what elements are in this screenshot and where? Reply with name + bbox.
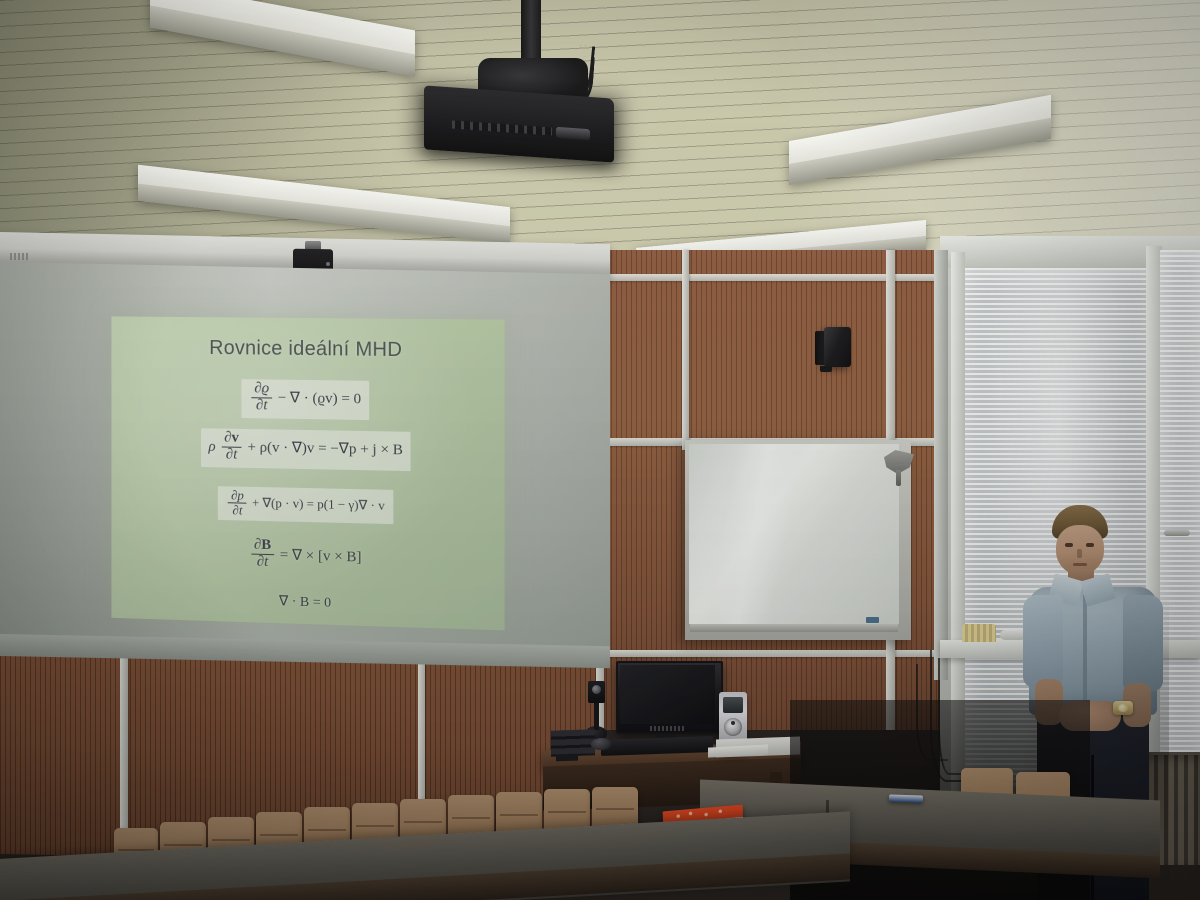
equation-continuity-body: ∂ϱ ∂t − ∇ · (ϱv) = 0 (241, 379, 369, 419)
presenter-sleeve-left (1023, 595, 1063, 687)
equation-pressure-rest: + ∇(p · v) = p(1 − γ)∇ · v (252, 495, 385, 513)
equation-pressure-body: ∂p ∂t + ∇(p · v) = p(1 − γ)∇ · v (218, 486, 393, 524)
whiteboard-pen-tray (690, 624, 898, 632)
desktop-speaker-stem (594, 702, 599, 730)
whiteboard-marker[interactable] (866, 617, 879, 623)
desktop-speaker-cone-icon (592, 685, 601, 694)
presenter-wristwatch-face (1118, 704, 1128, 712)
equation-momentum-rest: + ρ(v · ∇)v = −∇p + j × B (248, 440, 403, 459)
slide-title: Rovnice ideální MHD (111, 336, 504, 363)
housing-label (10, 253, 30, 260)
fraction-denominator: ∂t (251, 397, 272, 414)
desk-small-device (556, 754, 578, 762)
fraction-denominator: ∂t (228, 502, 247, 517)
equation-continuity: ∂ϱ ∂t − ∇ · (ϱv) = 0 (111, 377, 504, 421)
equation-continuity-rest: − ∇ · (ϱv) = 0 (278, 390, 361, 407)
presenter-eye-right (1086, 543, 1094, 547)
equation-induction-body: ∂B ∂t = ∇ × [v × B] (249, 546, 362, 565)
presenter-shirt-placket (1083, 595, 1087, 713)
projector-lens (556, 127, 590, 140)
presenter-mouth (1073, 563, 1087, 566)
av-control-panel-dial-marker (731, 721, 735, 725)
fraction-numerator: ∂ϱ (251, 381, 272, 397)
desk-equipment-stack (551, 729, 595, 757)
fraction-numerator: ∂B (251, 538, 274, 554)
wall-trim-vertical-1 (682, 250, 689, 450)
presenter-sleeve-right (1123, 595, 1163, 691)
wall-trim-horizontal-lower (596, 650, 964, 657)
lecture-room-photo: Rovnice ideální MHD ∂ϱ ∂t − ∇ · (ϱv) = 0… (0, 0, 1200, 900)
fraction: ∂B ∂t (251, 538, 274, 571)
window-frame-post (934, 250, 948, 680)
pen[interactable] (889, 794, 923, 802)
monitor-brand-label (650, 726, 684, 731)
slide-light-glow (111, 316, 504, 630)
whiteboard-glare (689, 444, 899, 624)
projected-slide: Rovnice ideální MHD ∂ϱ ∂t − ∇ · (ϱv) = 0… (111, 316, 504, 630)
ceiling-sensor-led (326, 262, 330, 266)
presenter-nose (1077, 549, 1082, 558)
fraction: ∂p ∂t (228, 488, 247, 517)
wall-speaker-bracket (820, 366, 832, 372)
equation-induction-rest: = ∇ × [v × B] (280, 547, 362, 565)
fraction-denominator: ∂t (251, 553, 274, 570)
fraction-numerator: ∂p (228, 488, 247, 502)
wall-speaker-icon (824, 327, 851, 367)
fraction: ∂ϱ ∂t (251, 381, 272, 414)
wall-trim-horizontal-top (596, 274, 964, 281)
presenter-eye-left (1065, 543, 1073, 547)
wall-hook-stem (896, 470, 901, 486)
monitor-screen[interactable] (620, 665, 715, 724)
fraction: ∂v ∂t (221, 431, 242, 464)
equation-momentum-body: ρ ∂v ∂t + ρ(v · ∇)v = −∇p + j × B (201, 428, 411, 470)
equation-momentum: ρ ∂v ∂t + ρ(v · ∇)v = −∇p + j × B (111, 427, 504, 473)
av-control-panel-display (723, 697, 743, 713)
equation-momentum-pre: ρ (209, 439, 216, 455)
fraction-denominator: ∂t (221, 446, 242, 463)
equation-divergence-free-body: ∇ · B = 0 (279, 594, 331, 611)
sill-object-1 (962, 624, 996, 642)
wall-trim-vertical-left-1 (120, 648, 128, 848)
fraction-numerator: ∂v (221, 431, 242, 447)
